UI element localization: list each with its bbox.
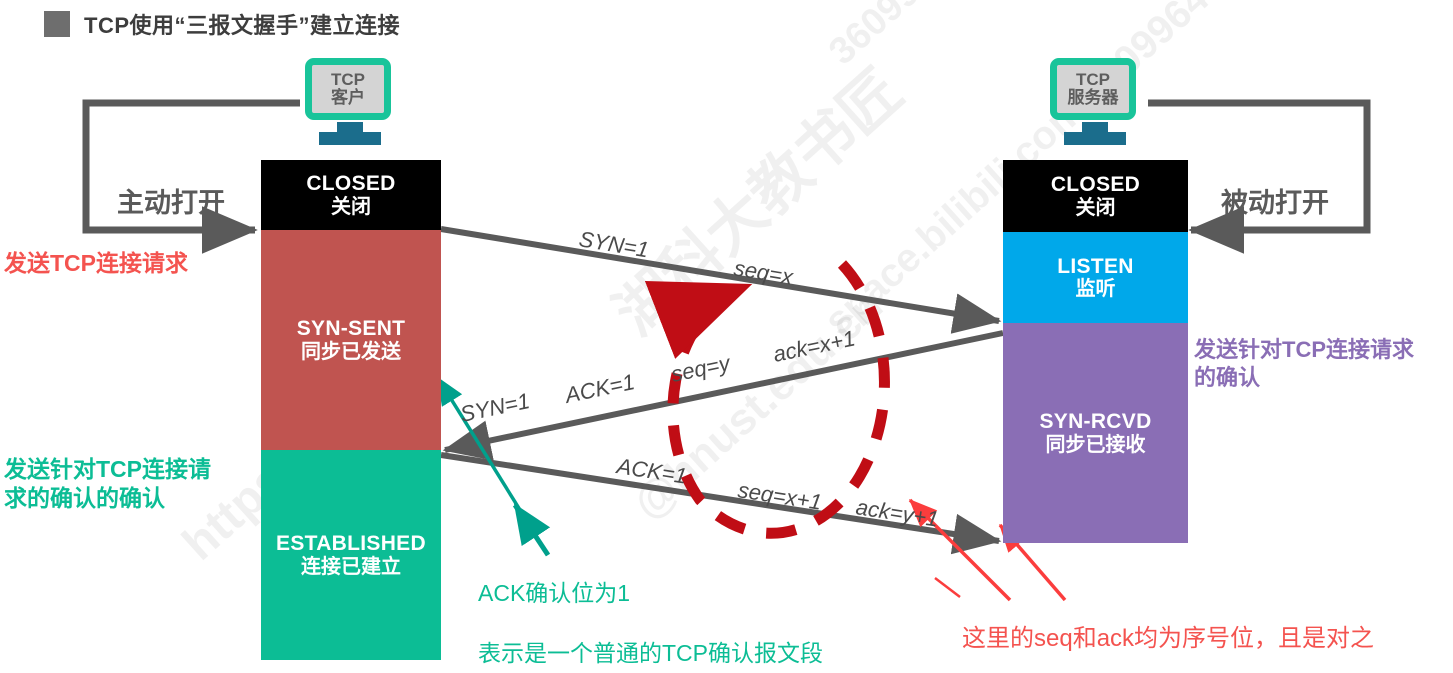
client-monitor-screen: TCP 客户 [305,58,391,120]
label-send-ack-of-ack: 发送针对TCP连接请 求的确认的确认 [4,455,211,513]
segment-3-field-1: seq=x+1 [736,477,823,515]
state-label-cn: 关闭 [1076,197,1116,219]
segment-2-field-0: SYN=1 [458,388,532,427]
bullet-square-icon [44,11,70,37]
label-passive-open: 被动打开 [1221,187,1329,221]
state-label-en: CLOSED [1051,173,1140,197]
server-state-stack: CLOSED 关闭 LISTEN 监听 SYN-RCVD 同步已接收 [1003,160,1188,543]
server-monitor-line1: TCP [1076,71,1110,89]
segment-1-field-0: SYN=1 [577,226,650,262]
server-monitor-line2: 服务器 [1068,89,1119,107]
client-monitor-icon: TCP 客户 [305,58,395,145]
label-active-open: 主动打开 [117,187,225,221]
label-send-ack-of-request: 发送针对TCP连接请求 的确认 [1194,336,1414,391]
annotation-ack-line-0: ACK确认位为1 [478,579,823,609]
client-monitor-line2: 客户 [331,89,365,107]
annotation-seq-line-0: 这里的seq和ack均为序号位，且是对之 [962,623,1374,654]
segment-2-field-2: seq=y [669,350,734,387]
server-monitor-neck [1082,122,1108,132]
client-state-established: ESTABLISHED 连接已建立 [261,450,441,660]
segment-3-field-2: ack=y+1 [854,494,940,531]
segment-1-field-1: seq=x [732,255,796,290]
state-label-en: SYN-SENT [297,317,406,341]
server-monitor-icon: TCP 服务器 [1050,58,1140,145]
state-label-cn: 连接已建立 [301,556,401,578]
server-state-syn-rcvd: SYN-RCVD 同步已接收 [1003,323,1188,543]
segment-3-field-0: ACK=1 [613,453,688,489]
client-monitor-neck [337,122,363,132]
server-monitor-screen: TCP 服务器 [1050,58,1136,120]
server-state-closed: CLOSED 关闭 [1003,160,1188,232]
server-monitor-base [1064,132,1126,145]
state-label-cn: 监听 [1076,278,1116,300]
annotation-ack-note: ACK确认位为1 表示是一个普通的TCP确认报文段 如果是0，则无效 [478,549,823,673]
state-label-cn: 同步已发送 [301,341,401,363]
server-state-listen: LISTEN 监听 [1003,232,1188,323]
page-title: TCP使用“三报文握手”建立连接 [44,8,400,40]
segment-2-arrow [445,333,1003,450]
client-state-syn-sent: SYN-SENT 同步已发送 [261,230,441,450]
client-monitor-base [319,132,381,145]
watermark: @hnust.edu.cn [624,280,893,529]
client-monitor-line1: TCP [331,71,365,89]
state-label-cn: 同步已接收 [1046,434,1146,456]
segment-2-field-3: ack=x+1 [771,325,858,366]
red-dashed-highlight [673,264,885,533]
state-label-cn: 关闭 [331,196,371,218]
ack-note-pointer [438,378,548,555]
page-title-text: TCP使用“三报文握手”建立连接 [84,8,400,40]
client-state-stack: CLOSED 关闭 SYN-SENT 同步已发送 ESTABLISHED 连接已… [261,160,441,660]
state-label-en: SYN-RCVD [1039,410,1151,434]
state-label-en: CLOSED [306,172,395,196]
segment-1-arrow [441,229,999,321]
segment-2-field-1: ACK=1 [561,369,637,408]
annotation-seq-note: 这里的seq和ack均为序号位，且是对之 前选择的初始号进行确认 [962,592,1374,673]
state-label-en: LISTEN [1057,255,1133,279]
watermark: 湖科大教书匠 [592,46,918,352]
watermark: 3609964O2 [821,0,997,74]
client-state-closed: CLOSED 关闭 [261,160,441,230]
annotation-ack-line-1: 表示是一个普通的TCP确认报文段 [478,639,823,669]
segment-3-arrow [441,455,999,541]
diagram-canvas: https:// 湖科大教书匠 @hnust.edu.cn space.bili… [0,0,1453,673]
label-send-connection-request: 发送TCP连接请求 [4,249,188,278]
state-label-en: ESTABLISHED [276,532,426,556]
